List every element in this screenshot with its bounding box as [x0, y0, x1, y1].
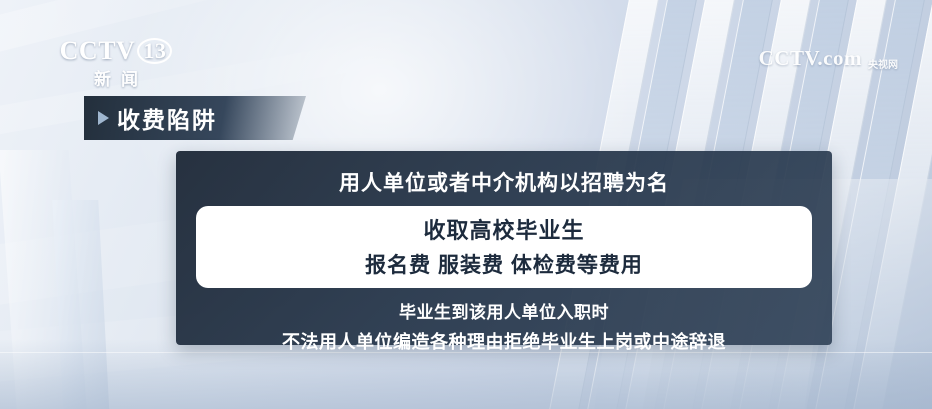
site-watermark: CCTV.com 央视网: [759, 46, 898, 71]
topic-tag: 收费陷阱: [84, 96, 306, 140]
info-panel-detail-1: 毕业生到该用人单位入职时: [190, 298, 818, 323]
info-panel-headline: 用人单位或者中介机构以招聘为名: [190, 167, 818, 197]
broadcast-frame: CCTV13 新闻 CCTV.com 央视网 收费陷阱 用人单位或者中介机构以招…: [0, 0, 932, 409]
highlight-line-2: 报名费 服装费 体检费等费用: [206, 249, 802, 279]
channel-logo-mark: CCTV13: [52, 38, 180, 65]
watermark-cn-text: 央视网: [868, 60, 898, 71]
info-panel: 用人单位或者中介机构以招聘为名 收取高校毕业生 报名费 服装费 体检费等费用 毕…: [176, 151, 832, 345]
info-panel-detail-2: 不法用人单位编造各种理由拒绝毕业生上岗或中途辞退: [190, 328, 818, 354]
channel-logo: CCTV13 新闻: [52, 38, 180, 88]
channel-logo-sublabel: 新闻: [52, 71, 180, 88]
play-triangle-icon: [98, 111, 109, 125]
channel-logo-number: 13: [137, 38, 172, 64]
topic-tag-label: 收费陷阱: [117, 101, 217, 135]
channel-logo-name: CCTV: [60, 36, 136, 65]
watermark-text: CCTV.com: [759, 46, 862, 71]
highlight-line-1: 收取高校毕业生: [206, 213, 802, 245]
info-panel-highlight-box: 收取高校毕业生 报名费 服装费 体检费等费用: [196, 206, 812, 288]
